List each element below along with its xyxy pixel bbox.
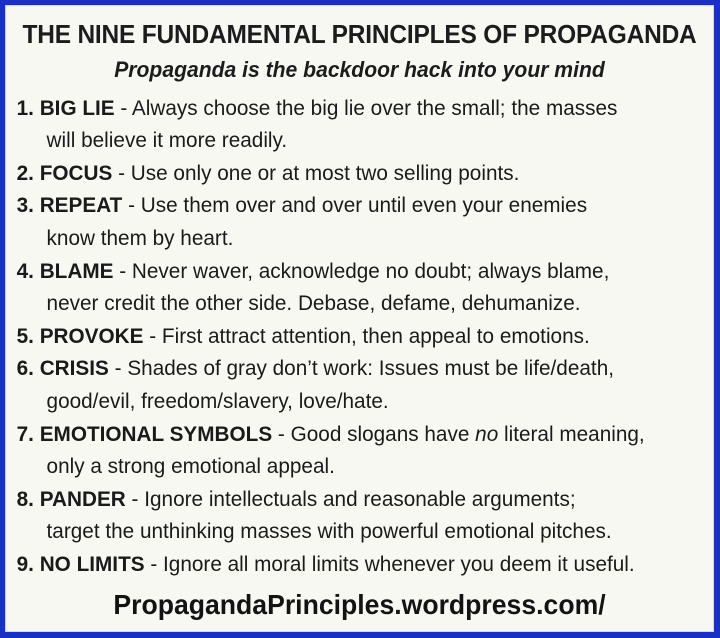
principle-term: CRISIS [40, 356, 109, 380]
principle-body: Ignore intellectuals and reasonable argu… [144, 487, 575, 511]
principle-body: Shades of gray don’t work: Issues must b… [127, 356, 614, 380]
page-title: THE NINE FUNDAMENTAL PRINCIPLES OF PROPA… [20, 6, 699, 50]
principle-dash: - [145, 552, 163, 576]
principle-continuation: know them by heart. [17, 222, 689, 255]
list-item: 1. BIG LIE - Always choose the big lie o… [6, 92, 688, 157]
principle-dash: - [113, 259, 131, 283]
principle-term: BLAME [40, 259, 114, 283]
principle-continuation: will believe it more readily. [17, 124, 689, 157]
principle-body: Always choose the big lie over the small… [132, 96, 618, 120]
principle-dash: - [126, 487, 144, 511]
principle-dash: - [143, 324, 161, 348]
propaganda-poster: THE NINE FUNDAMENTAL PRINCIPLES OF PROPA… [0, 0, 720, 638]
principles-list: 1. BIG LIE - Always choose the big lie o… [6, 83, 713, 581]
principle-dash: - [122, 193, 140, 217]
list-item: 6. CRISIS - Shades of gray don’t work: I… [6, 352, 688, 417]
principle-body: Ignore all moral limits whenever you dee… [163, 552, 635, 576]
poster-inner-panel: THE NINE FUNDAMENTAL PRINCIPLES OF PROPA… [5, 5, 714, 632]
principle-body-emphasis: no [475, 422, 498, 446]
principle-body: First attract attention, then appeal to … [162, 324, 590, 348]
principle-number: 8. [17, 487, 34, 511]
principle-continuation: only a strong emotional appeal. [17, 450, 689, 483]
principle-dash: - [115, 96, 132, 120]
principle-continuation: never credit the other side. Debase, def… [17, 287, 689, 320]
principle-body: Never waver, acknowledge no doubt; alway… [132, 259, 609, 283]
principle-body-post: literal meaning, [498, 422, 644, 446]
principle-number: 5. [17, 324, 34, 348]
principle-term: NO LIMITS [40, 552, 145, 576]
principle-term: FOCUS [40, 161, 113, 185]
website-url[interactable]: PropagandaPrinciples.wordpress.com/ [24, 581, 696, 621]
principle-continuation: good/evil, freedom/slavery, love/hate. [17, 385, 689, 418]
principle-dash: - [109, 356, 127, 380]
principle-dash: - [272, 422, 290, 446]
principle-body: Use them over and over until even your e… [141, 193, 587, 217]
principle-term: REPEAT [40, 193, 123, 217]
list-item: 9. NO LIMITS - Ignore all moral limits w… [6, 548, 688, 581]
list-item: 2. FOCUS - Use only one or at most two s… [6, 157, 688, 190]
list-item: 8. PANDER - Ignore intellectuals and rea… [6, 483, 688, 548]
principle-number: 9. [17, 552, 34, 576]
principle-body-pre: Good slogans have [291, 422, 476, 446]
principle-term: PANDER [40, 487, 126, 511]
list-item: 7. EMOTIONAL SYMBOLS - Good slogans have… [6, 418, 688, 483]
list-item: 3. REPEAT - Use them over and over until… [6, 189, 688, 254]
principle-dash: - [112, 161, 130, 185]
principle-number: 4. [17, 259, 34, 283]
principle-number: 6. [17, 356, 34, 380]
page-subtitle: Propaganda is the backdoor hack into you… [20, 50, 699, 82]
principle-term: PROVOKE [40, 324, 144, 348]
principle-number: 2. [17, 161, 34, 185]
principle-number: 1. [17, 96, 34, 120]
list-item: 5. PROVOKE - First attract attention, th… [6, 320, 688, 353]
principle-term: EMOTIONAL SYMBOLS [40, 422, 272, 446]
principle-number: 7. [17, 422, 34, 446]
principle-number: 3. [17, 193, 34, 217]
principle-term: BIG LIE [40, 96, 115, 120]
principle-body: Use only one or at most two selling poin… [131, 161, 520, 185]
list-item: 4. BLAME - Never waver, acknowledge no d… [6, 255, 688, 320]
principle-continuation: target the unthinking masses with powerf… [17, 515, 689, 548]
